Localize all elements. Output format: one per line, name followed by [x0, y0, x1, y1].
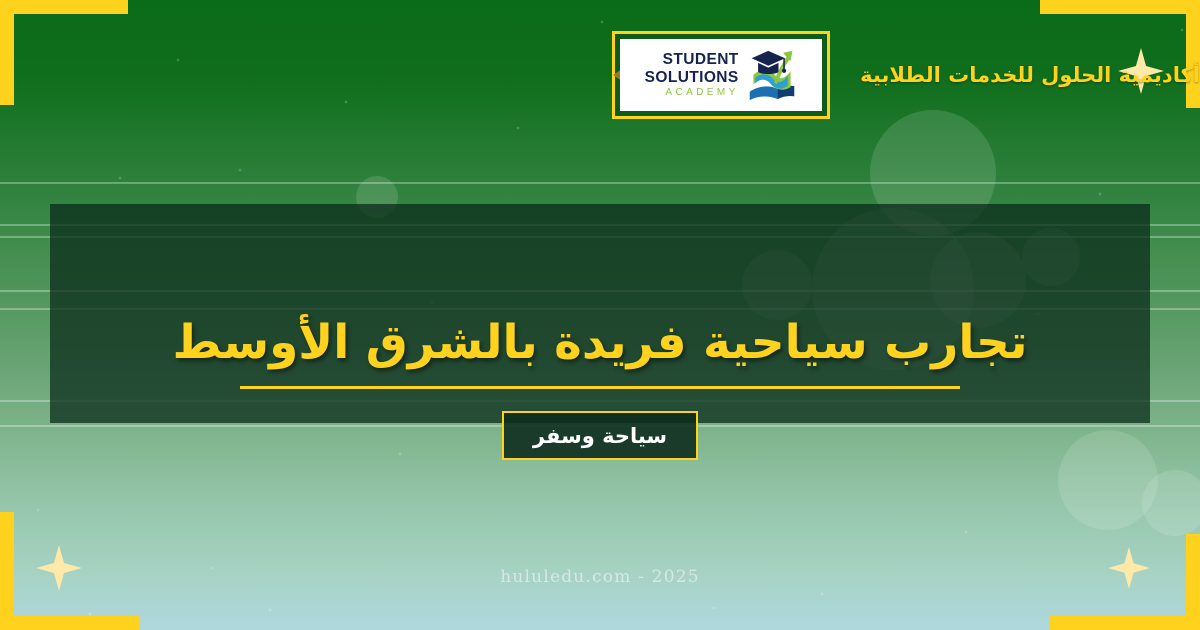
bokeh-circle — [1058, 430, 1158, 530]
sparkle-dot-icon — [36, 508, 40, 512]
footer-credit: hululedu.com - 2025 — [0, 567, 1200, 587]
frame-bar-bottom-left-horizontal — [0, 616, 140, 630]
sparkle-dot-icon — [820, 592, 824, 596]
bokeh-circle — [1142, 470, 1200, 536]
sparkle-dot-icon — [118, 176, 122, 180]
frame-bar-bottom-right-horizontal — [1050, 616, 1200, 630]
logo-frame: STUDENT SOLUTIONS ACADEMY — [612, 31, 830, 119]
logo-wordmark: STUDENT SOLUTIONS ACADEMY — [645, 52, 739, 98]
logo-line-3: ACADEMY — [665, 88, 738, 98]
academy-logo: STUDENT SOLUTIONS ACADEMY — [620, 39, 822, 111]
graduation-cap-growth-arrow-logo-icon — [746, 47, 798, 103]
brand-name: أكاديمية الحلول للخدمات الطلابية — [860, 63, 1200, 87]
thumbnail-canvas: STUDENT SOLUTIONS ACADEMY أكاديمية الحلو… — [0, 0, 1200, 630]
sparkle-dot-icon — [88, 612, 92, 616]
sparkle-dot-icon — [268, 608, 272, 612]
scan-line — [0, 182, 1200, 184]
sparkle-dot-icon — [398, 452, 402, 456]
title-underline — [240, 386, 960, 389]
category-badge: سياحة وسفر — [502, 411, 698, 460]
sparkle-dot-icon — [964, 530, 968, 534]
header: STUDENT SOLUTIONS ACADEMY أكاديمية الحلو… — [0, 0, 1200, 150]
title-card: تجارب سياحية فريدة بالشرق الأوسط — [50, 204, 1150, 423]
logo-line-2: SOLUTIONS — [645, 70, 739, 86]
page-title: تجارب سياحية فريدة بالشرق الأوسط — [173, 316, 1028, 370]
sparkle-dot-icon — [238, 168, 242, 172]
logo-line-1: STUDENT — [663, 52, 739, 68]
sparkle-dot-icon — [712, 606, 716, 610]
sparkle-dot-icon — [1098, 192, 1102, 196]
